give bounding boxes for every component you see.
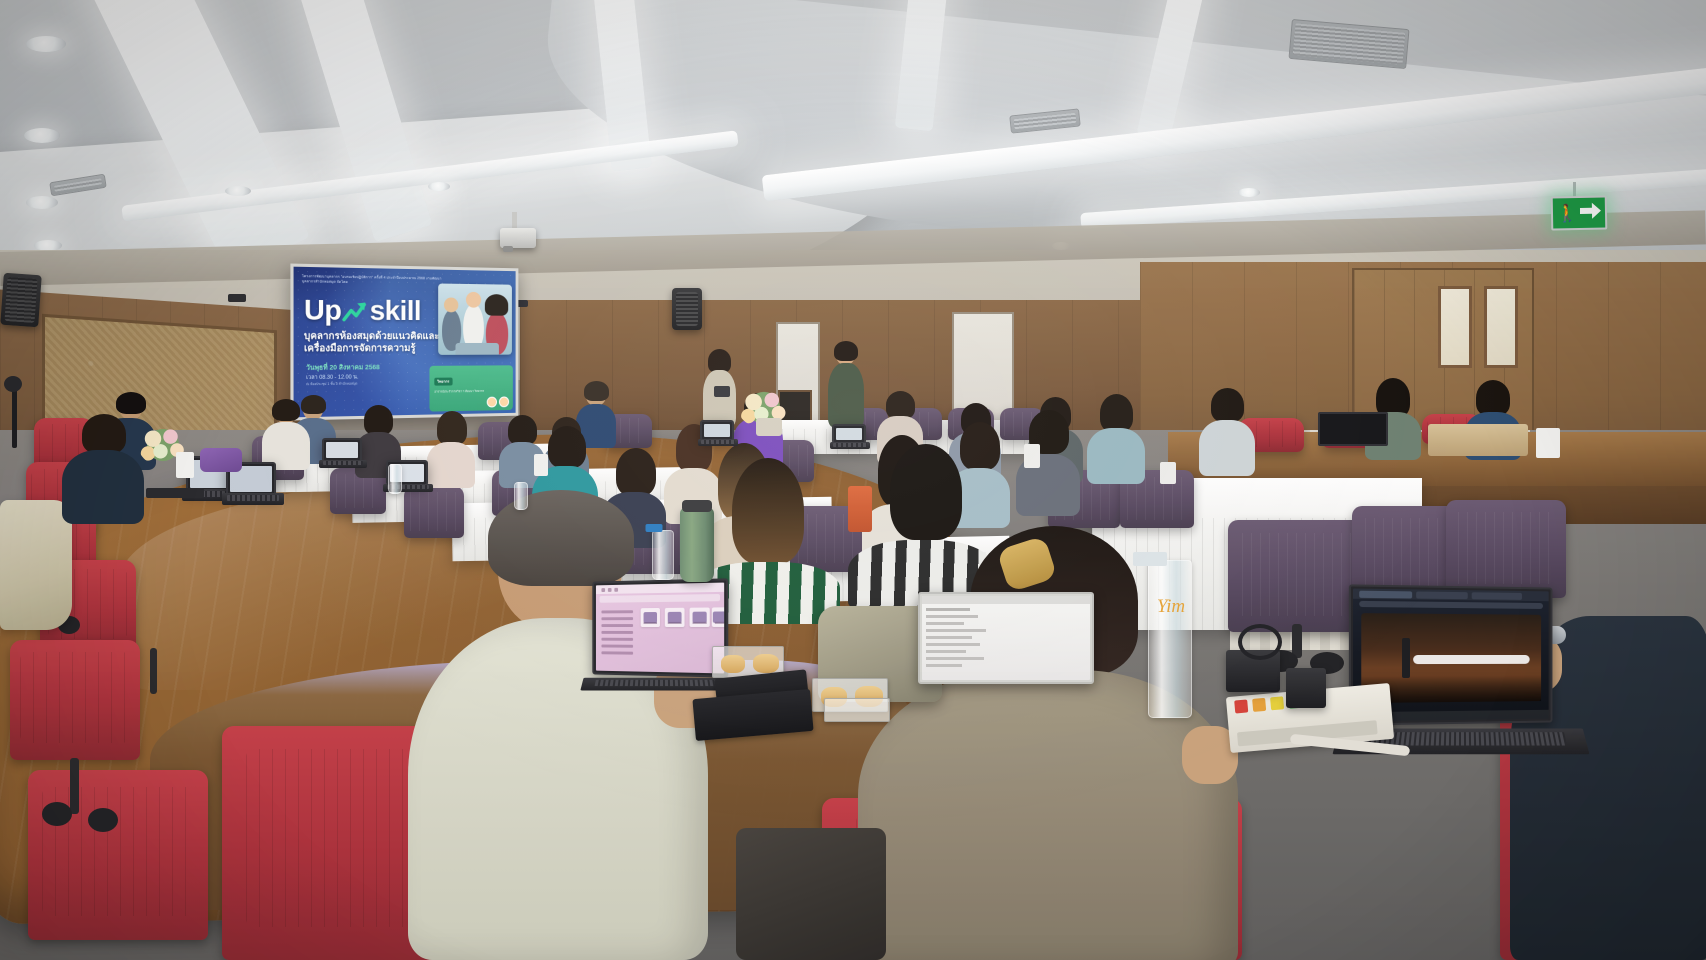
slide-subtitle-line2: เครื่องมือการจัดการความรู้ xyxy=(304,343,454,356)
charging-adapter xyxy=(1286,668,1326,708)
chair-base xyxy=(70,758,79,814)
recessed-downlight-icon xyxy=(24,128,60,143)
recessed-downlight-icon xyxy=(1238,188,1260,197)
laptop-screen[interactable] xyxy=(836,428,862,440)
door-window-panel xyxy=(1484,286,1518,368)
laptop-screen[interactable] xyxy=(704,424,730,437)
microphone-head xyxy=(4,376,22,392)
water-bottle[interactable] xyxy=(388,464,402,494)
slide-speaker-avatars xyxy=(487,396,509,407)
bench-monitor[interactable] xyxy=(1318,412,1388,446)
recessed-downlight-icon xyxy=(26,36,66,52)
water-bottle-yim[interactable] xyxy=(1148,560,1192,718)
seated-person xyxy=(1084,398,1148,484)
slide-logo-up: Up xyxy=(304,294,341,327)
presentation-slide: โครงการพัฒนาบุคลากร "อบรมเชิงปฏิบัติการ"… xyxy=(294,267,516,418)
snack-box[interactable] xyxy=(824,698,890,722)
tissue-box xyxy=(1536,428,1560,458)
projection-screen: โครงการพัฒนาบุคลากร "อบรมเชิงปฏิบัติการ"… xyxy=(290,264,518,421)
slide-logo-skill: skill xyxy=(370,294,421,327)
wall-speaker-center xyxy=(672,288,702,330)
bag-on-floor xyxy=(736,828,886,960)
seated-person-table-left xyxy=(260,402,312,468)
laptop-back-center[interactable] xyxy=(700,420,742,450)
ceiling-projector xyxy=(500,228,536,248)
paper-cup[interactable] xyxy=(176,452,194,478)
slide-speaker-badge: วิทยากร xyxy=(434,378,452,386)
green-tumbler[interactable] xyxy=(680,508,714,582)
up-arrow-icon xyxy=(342,297,368,324)
wall-speaker-left xyxy=(0,273,42,328)
laptop-screen-left[interactable] xyxy=(596,583,724,674)
slide-event-details: วันพุธที่ 20 สิงหาคม 2568 เวลา 08.30 - 1… xyxy=(306,363,446,387)
slide-subtitle-line1: บุคลากรห้องสมุดด้วยแนวคิดและ xyxy=(304,331,454,344)
red-chair[interactable] xyxy=(10,640,140,760)
purple-pouch xyxy=(200,448,242,472)
juice-carton[interactable] xyxy=(848,486,872,532)
bottle-brand-label: Yim xyxy=(1152,596,1190,622)
vase xyxy=(756,418,782,436)
chair-caster xyxy=(88,808,118,832)
power-socket[interactable] xyxy=(1252,698,1266,712)
slide-subtitle: บุคลากรห้องสมุดด้วยแนวคิดและ เครื่องมือก… xyxy=(304,331,454,356)
paper-cup[interactable] xyxy=(1024,444,1040,468)
bottle-cap xyxy=(1133,552,1167,566)
emergency-exit-sign: 🚶 xyxy=(1551,196,1608,231)
laptop-screen[interactable] xyxy=(326,442,358,458)
wall-speaker-small xyxy=(228,294,246,302)
door-window-panel xyxy=(1438,286,1472,368)
hair xyxy=(488,490,634,586)
laptop-back-left[interactable] xyxy=(322,438,372,472)
seminar-room-photo: โครงการพัฒนาบุคลากร "อบรมเชิงปฏิบัติการ"… xyxy=(0,0,1706,960)
power-socket[interactable] xyxy=(1270,696,1284,710)
chair-base xyxy=(150,648,157,694)
arrow-right-icon xyxy=(1579,201,1601,224)
recessed-downlight-icon xyxy=(26,196,58,209)
tumbler-lid xyxy=(682,500,712,512)
seated-person xyxy=(1196,392,1258,476)
laptop-foreground-center[interactable] xyxy=(918,592,1118,712)
slide-speaker-box: วิทยากร อาจารย์ประจำภาควิชา ฯ สัมมนา วิท… xyxy=(429,365,512,411)
standing-presenter-right xyxy=(824,344,868,426)
chair-caster xyxy=(42,802,72,826)
red-chair[interactable] xyxy=(28,770,208,940)
power-socket[interactable] xyxy=(1234,699,1248,713)
slide-logo: Up skill xyxy=(304,294,421,327)
slide-photo-collage xyxy=(438,283,512,354)
microphone-stand xyxy=(1402,638,1410,678)
keyboard[interactable] xyxy=(146,488,204,498)
paper-cup[interactable] xyxy=(1160,462,1176,484)
presenter-microphone xyxy=(714,386,730,397)
wicker-basket xyxy=(1428,424,1528,456)
paper-cup[interactable] xyxy=(534,454,548,476)
laptop-back-center-2[interactable] xyxy=(832,424,874,454)
recessed-downlight-icon xyxy=(225,186,251,196)
recessed-downlight-icon xyxy=(428,182,450,191)
slide-speaker-text: อาจารย์ประจำภาควิชา ฯ สัมมนา วิทยากร xyxy=(434,389,508,394)
water-bottle[interactable] xyxy=(652,530,674,580)
seated-person-table-left xyxy=(60,420,146,524)
bottle-cap xyxy=(646,524,663,532)
microphone-stand xyxy=(12,386,17,448)
water-bottle[interactable] xyxy=(514,482,528,510)
power-cable xyxy=(1238,624,1282,660)
laptop-screen-center[interactable] xyxy=(922,596,1090,680)
running-man-icon: 🚶 xyxy=(1556,205,1577,222)
seated-person xyxy=(1012,414,1084,514)
